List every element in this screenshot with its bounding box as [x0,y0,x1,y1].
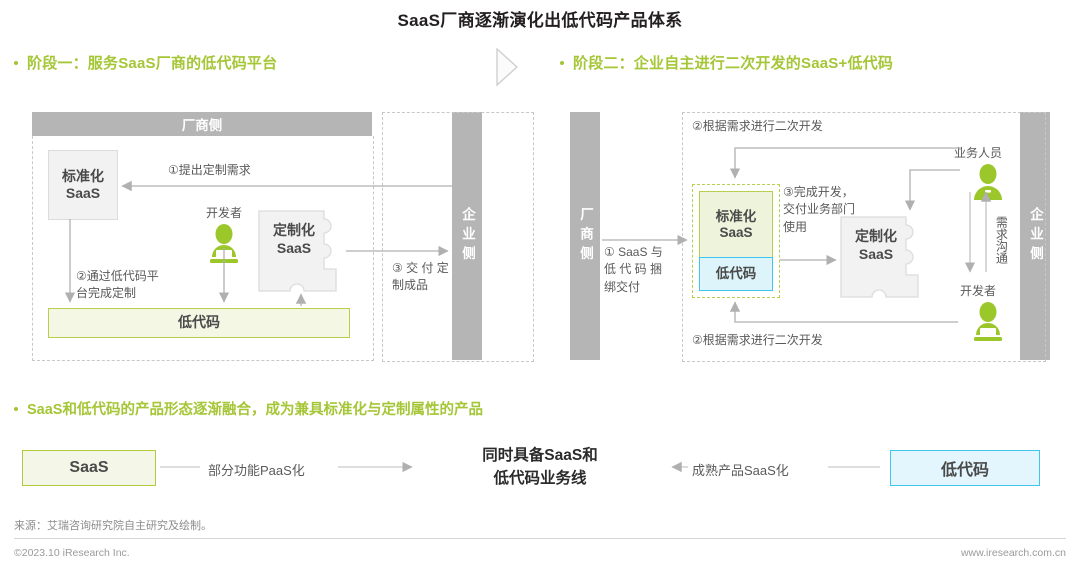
stage-2-header: 阶段二：企业自主进行二次开发的SaaS+低代码 [560,52,893,73]
page-title: SaaS厂商逐渐演化出低代码产品体系 [0,6,1080,31]
stage-2-header-label: 阶段二：企业自主进行二次开发的SaaS+低代码 [573,52,893,73]
stage-separator-triangle-icon [493,47,521,87]
stage-2-diagram: 厂商侧 企业侧 标准化 SaaS 低代码 定制化 SaaS 业务人员 [540,100,1080,365]
stage-1-diagram: 厂商侧 企业侧 标准化 SaaS 定制化 SaaS 低代码 开发者 [0,100,540,365]
footer-website: www.iresearch.com.cn [961,547,1066,559]
connector-arrows-left [0,100,540,365]
bullet-dot-icon [560,61,564,65]
slide-root: SaaS厂商逐渐演化出低代码产品体系 阶段一：服务SaaS厂商的低代码平台 阶段… [0,0,1080,567]
stage-1-header: 阶段一：服务SaaS厂商的低代码平台 [14,52,277,73]
stage-1-header-label: 阶段一：服务SaaS厂商的低代码平台 [27,52,277,73]
footer-divider [14,538,1066,539]
bottom-connector-arrows [0,390,1080,510]
connector-arrows-right [540,100,1080,365]
source-note: 来源：艾瑞咨询研究院自主研究及绘制。 [14,517,212,533]
footer-copyright: ©2023.10 iResearch Inc. [14,547,130,559]
bullet-dot-icon [14,61,18,65]
